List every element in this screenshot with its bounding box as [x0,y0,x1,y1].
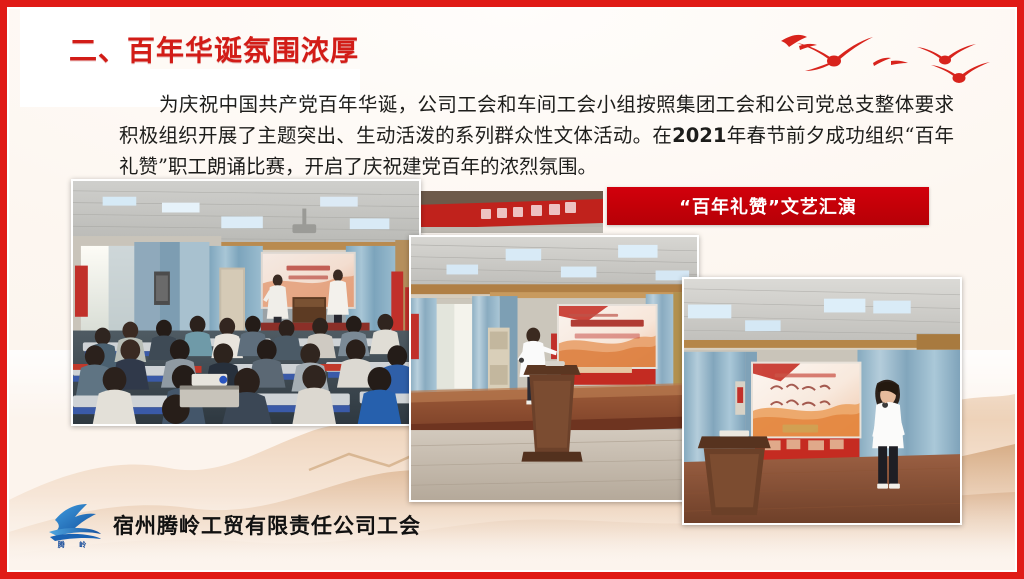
photo-stage-female-reciter[interactable] [682,277,962,525]
slide-canvas: 二、百年华诞氛围浓厚 [9,9,1015,570]
hall-banner-svg [413,191,603,233]
bird-wave-logo: 腾 岭 [47,502,103,548]
photo-auditorium-audience[interactable] [71,179,421,426]
logo-subtext: 腾 岭 [47,540,103,550]
photo3-svg [684,279,960,523]
photo-stage-reciter-podium[interactable] [409,235,699,502]
photo2-svg [411,237,697,500]
caption-banner: “百年礼赞”文艺汇演 [607,187,929,225]
photo1-svg [73,181,419,424]
page-title: 二、百年华诞氛围浓厚 [69,29,359,69]
hall-banner-fragment [413,191,603,233]
body-text-year: 2021 [672,124,726,147]
body-paragraph: 为庆祝中国共产党百年华诞，公司工会和车间工会小组按照集团工会和公司党总支整体要求… [119,89,954,182]
logo-svg [47,502,103,544]
presentation-slide: 二、百年华诞氛围浓厚 [0,0,1024,579]
company-name: 宿州腾岭工贸有限责任公司工会 [113,510,421,540]
footer: 腾 岭 宿州腾岭工贸有限责任公司工会 [47,502,421,548]
